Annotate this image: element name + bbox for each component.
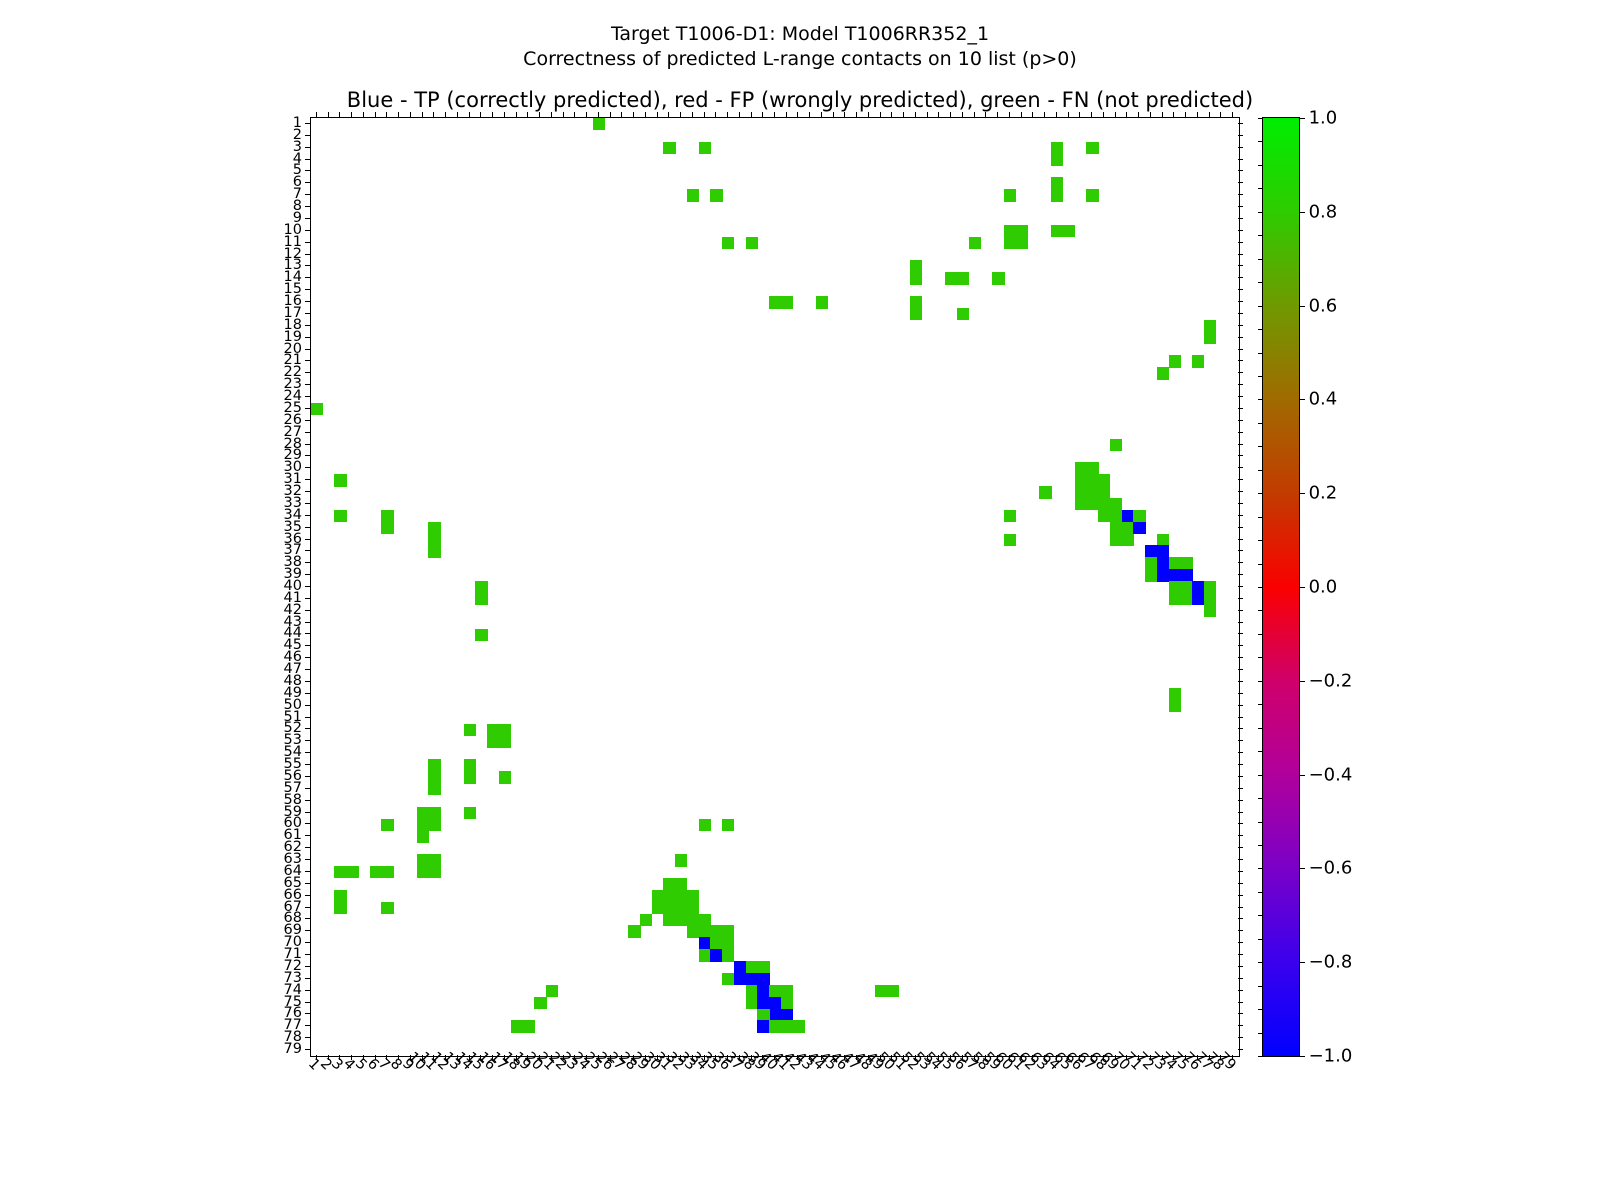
y-axis-tick (305, 764, 310, 765)
y-axis-tick-right (1238, 966, 1243, 967)
colorbar-minor-tick (1258, 1033, 1263, 1034)
y-axis-tick-right (1238, 788, 1243, 789)
y-axis-tick-right (1238, 693, 1243, 694)
colorbar-minor-tick (1258, 517, 1263, 518)
y-axis-tick (305, 610, 310, 611)
contact-cell (722, 973, 734, 985)
contact-cell (1004, 510, 1016, 522)
x-axis-tick-top (903, 112, 904, 117)
x-axis-tick-top (1091, 112, 1092, 117)
y-axis-tick (305, 740, 310, 741)
x-axis-tick-top (938, 112, 939, 117)
contact-cell (652, 890, 664, 902)
x-axis-tick-top (680, 112, 681, 117)
contact-cell (475, 581, 487, 593)
contact-cell (652, 902, 664, 914)
y-axis-tick-right (1238, 1049, 1243, 1050)
y-axis-tick-right (1238, 372, 1243, 373)
contact-cell (781, 985, 793, 997)
contact-cell (1157, 557, 1169, 569)
y-axis-tick-right (1238, 598, 1243, 599)
x-axis-tick-top (997, 112, 998, 117)
y-axis-tick-right (1238, 835, 1243, 836)
x-axis-tick-top (551, 112, 552, 117)
y-axis-tick (305, 313, 310, 314)
x-axis-tick-top (586, 112, 587, 117)
contact-cell (381, 866, 393, 878)
y-axis-tick-right (1238, 123, 1243, 124)
contact-cell (1192, 581, 1204, 593)
y-axis-tick-right (1238, 491, 1243, 492)
y-axis-tick-right (1238, 206, 1243, 207)
x-axis-tick-top (363, 112, 364, 117)
contact-cell (428, 819, 440, 831)
y-axis-tick (305, 360, 310, 361)
x-axis-tick-top (915, 112, 916, 117)
x-axis-tick-top (1173, 112, 1174, 117)
y-axis-tick-right (1238, 467, 1243, 468)
y-axis-tick-right (1238, 776, 1243, 777)
contact-cell (487, 735, 499, 747)
contact-cell (334, 510, 346, 522)
y-axis-tick (305, 574, 310, 575)
y-axis-tick-right (1238, 479, 1243, 480)
contact-cell (1075, 498, 1087, 510)
colorbar-minor-tick (1258, 118, 1263, 119)
contact-cell (546, 985, 558, 997)
y-axis-tick-right (1238, 586, 1243, 587)
contact-cell (475, 593, 487, 605)
contact-cell (417, 819, 429, 831)
contact-cell (875, 985, 887, 997)
contact-cell (734, 961, 746, 973)
x-axis-tick-top (328, 112, 329, 117)
x-axis-tick-top (563, 112, 564, 117)
contact-cell (1051, 189, 1063, 201)
x-axis-tick-top (1209, 112, 1210, 117)
contact-cell (1051, 177, 1063, 189)
x-axis-tick-top (668, 112, 669, 117)
colorbar-minor-tick (1258, 282, 1263, 283)
colorbar-minor-tick (1258, 868, 1263, 869)
y-axis-tick-right (1238, 942, 1243, 943)
contact-cell (793, 1020, 805, 1032)
contact-cell (1086, 142, 1098, 154)
y-axis-tick-right (1238, 230, 1243, 231)
contact-cell (910, 272, 922, 284)
colorbar-minor-tick (1258, 212, 1263, 213)
contact-cell (675, 902, 687, 914)
contact-cell (1122, 510, 1134, 522)
contact-cell (887, 985, 899, 997)
y-axis-tick (305, 1037, 310, 1038)
contact-cell (1157, 545, 1169, 557)
contact-cell (417, 854, 429, 866)
colorbar-minor-tick (1258, 188, 1263, 189)
contact-cell (969, 237, 981, 249)
y-axis-label: 79 (284, 1041, 302, 1057)
contact-cell (699, 937, 711, 949)
y-axis-tick (305, 491, 310, 492)
x-axis-tick-top (1103, 112, 1104, 117)
contact-cell (769, 1020, 781, 1032)
x-axis-tick-top (375, 112, 376, 117)
y-axis-tick-right (1238, 325, 1243, 326)
colorbar-tick-label: 0.2 (1303, 483, 1338, 504)
contact-cell (499, 771, 511, 783)
x-axis-tick-top (398, 112, 399, 117)
contact-cell (757, 961, 769, 973)
x-axis-tick-top (774, 112, 775, 117)
contact-cell (710, 189, 722, 201)
contact-cell (663, 890, 675, 902)
y-axis-tick (305, 622, 310, 623)
x-axis-tick-top (868, 112, 869, 117)
y-axis-tick (305, 550, 310, 551)
contact-cell (534, 997, 546, 1009)
contact-cell (1169, 593, 1181, 605)
contact-cell (722, 937, 734, 949)
y-axis-tick (305, 930, 310, 931)
y-axis-tick (305, 194, 310, 195)
contact-cell (663, 142, 675, 154)
y-axis-tick-right (1238, 681, 1243, 682)
contact-cell (381, 902, 393, 914)
contact-cell (1204, 605, 1216, 617)
colorbar-minor-tick (1258, 634, 1263, 635)
contact-cell (1039, 486, 1051, 498)
contact-cell (1204, 581, 1216, 593)
contact-cell (1098, 486, 1110, 498)
y-axis-tick-right (1238, 918, 1243, 919)
contact-cell (781, 1020, 793, 1032)
y-axis-tick (305, 776, 310, 777)
y-axis-tick (305, 883, 310, 884)
x-axis-tick-top (880, 112, 881, 117)
y-axis-tick (305, 408, 310, 409)
y-axis-tick (305, 705, 310, 706)
y-axis-tick-right (1238, 895, 1243, 896)
x-axis-tick-top (610, 112, 611, 117)
contact-cell (428, 759, 440, 771)
contact-cell (769, 997, 781, 1009)
contact-cell (687, 890, 699, 902)
chart-legend-subtitle: Blue - TP (correctly predicted), red - F… (0, 88, 1600, 112)
contact-cell (1169, 700, 1181, 712)
colorbar-minor-tick (1258, 610, 1263, 611)
contact-cell (675, 890, 687, 902)
y-axis-tick-right (1238, 420, 1243, 421)
x-axis-tick-top (704, 112, 705, 117)
contact-cell (1086, 189, 1098, 201)
contact-cell (1180, 557, 1192, 569)
contact-cell (769, 296, 781, 308)
contact-cell (417, 807, 429, 819)
contact-cell (1075, 462, 1087, 474)
y-axis-tick-right (1238, 645, 1243, 646)
contact-cell (746, 237, 758, 249)
contact-cell (781, 997, 793, 1009)
contact-cell (1169, 569, 1181, 581)
colorbar-minor-tick (1258, 306, 1263, 307)
x-axis-tick-top (1079, 112, 1080, 117)
colorbar-tick-label: −0.6 (1303, 858, 1353, 879)
contact-cell (346, 866, 358, 878)
y-axis-tick-right (1238, 408, 1243, 409)
contact-cell (334, 902, 346, 914)
x-axis-tick-top (516, 112, 517, 117)
contact-cell (593, 118, 605, 130)
contact-cell (1180, 581, 1192, 593)
y-axis-tick-right (1238, 242, 1243, 243)
y-axis-tick (305, 859, 310, 860)
colorbar-minor-tick (1258, 564, 1263, 565)
x-axis-tick-top (433, 112, 434, 117)
colorbar-minor-tick (1258, 141, 1263, 142)
x-axis-tick-top (621, 112, 622, 117)
contact-cell (334, 890, 346, 902)
contact-cell (687, 189, 699, 201)
colorbar-gradient (1263, 118, 1299, 1056)
contact-cell (675, 878, 687, 890)
contact-cell (428, 783, 440, 795)
y-axis-tick-right (1238, 705, 1243, 706)
contact-cell (428, 522, 440, 534)
x-axis-tick-top (598, 112, 599, 117)
y-axis-tick (305, 645, 310, 646)
y-axis-tick (305, 337, 310, 338)
y-axis-tick (305, 717, 310, 718)
y-axis-tick-right (1238, 550, 1243, 551)
colorbar-minor-tick (1258, 540, 1263, 541)
x-axis-tick-top (1044, 112, 1045, 117)
x-axis-tick-top (1021, 112, 1022, 117)
y-axis-tick (305, 835, 310, 836)
y-axis-tick (305, 396, 310, 397)
y-axis-tick-right (1238, 633, 1243, 634)
contact-cell (1086, 462, 1098, 474)
contact-cell (757, 1020, 769, 1032)
y-axis-tick (305, 752, 310, 753)
contact-cell (945, 272, 957, 284)
y-axis-tick (305, 1025, 310, 1026)
contact-cell (1086, 474, 1098, 486)
y-axis-tick-right (1238, 503, 1243, 504)
y-axis-tick-right (1238, 384, 1243, 385)
y-axis-tick-right (1238, 1002, 1243, 1003)
colorbar-minor-tick (1258, 259, 1263, 260)
x-axis-tick-top (1197, 112, 1198, 117)
contact-cell (1051, 142, 1063, 154)
y-axis-tick-right (1238, 610, 1243, 611)
contact-cell (816, 296, 828, 308)
chart-title-line-1: Target T1006-D1: Model T1006RR352_1 (0, 22, 1600, 47)
y-axis-tick-right (1238, 455, 1243, 456)
y-axis-tick (305, 942, 310, 943)
x-axis-tick-top (985, 112, 986, 117)
contact-cell (428, 771, 440, 783)
colorbar-minor-tick (1258, 845, 1263, 846)
contact-cell (675, 914, 687, 926)
x-axis-tick-top (751, 112, 752, 117)
x-axis-tick-top (1220, 112, 1221, 117)
colorbar-minor-tick (1258, 235, 1263, 236)
y-axis-tick (305, 503, 310, 504)
colorbar-minor-tick (1258, 470, 1263, 471)
x-axis-tick-top (351, 112, 352, 117)
y-axis-tick (305, 954, 310, 955)
y-axis-tick (305, 907, 310, 908)
y-axis-tick-right (1238, 135, 1243, 136)
x-axis-tick-top (1162, 112, 1163, 117)
contact-cell (640, 914, 652, 926)
y-axis-tick (305, 170, 310, 171)
contact-cell (1122, 522, 1134, 534)
contact-cell (334, 474, 346, 486)
colorbar-tick-label: 1.0 (1303, 108, 1338, 129)
contact-cell (769, 1009, 781, 1021)
x-axis-tick-top (504, 112, 505, 117)
contact-cell (428, 545, 440, 557)
colorbar-minor-tick (1258, 1009, 1263, 1010)
colorbar-minor-tick (1258, 681, 1263, 682)
contact-cell (699, 949, 711, 961)
contact-cell (428, 866, 440, 878)
y-axis-tick (305, 681, 310, 682)
contact-cell (992, 272, 1004, 284)
contact-cell (487, 724, 499, 736)
contact-cell (910, 308, 922, 320)
y-axis-tick (305, 467, 310, 468)
contact-map-plot-area[interactable] (310, 117, 1240, 1057)
colorbar-tick-label: −0.4 (1303, 764, 1353, 785)
contact-cell (1004, 225, 1016, 237)
y-axis-tick (305, 788, 310, 789)
contact-cell (417, 866, 429, 878)
y-axis-tick (305, 657, 310, 658)
y-axis-tick (305, 990, 310, 991)
contact-cell (381, 510, 393, 522)
y-axis-tick (305, 277, 310, 278)
y-axis-tick (305, 527, 310, 528)
colorbar-minor-tick (1258, 399, 1263, 400)
contact-cell (687, 914, 699, 926)
colorbar-minor-tick (1258, 775, 1263, 776)
y-axis-tick (305, 147, 310, 148)
y-axis-tick (305, 444, 310, 445)
y-axis-tick (305, 669, 310, 670)
contact-cell (522, 1020, 534, 1032)
contact-cell (1016, 237, 1028, 249)
y-axis-tick-right (1238, 182, 1243, 183)
y-axis-tick (305, 206, 310, 207)
colorbar-minor-tick (1258, 798, 1263, 799)
y-axis-tick (305, 966, 310, 967)
contact-cell (428, 854, 440, 866)
contact-cell (1192, 593, 1204, 605)
x-axis-tick-top (833, 112, 834, 117)
colorbar-tick-label: −1.0 (1303, 1046, 1353, 1067)
contact-cell (1169, 581, 1181, 593)
colorbar-minor-tick (1258, 587, 1263, 588)
contact-cell (757, 1009, 769, 1021)
x-axis-tick-top (856, 112, 857, 117)
contact-cell (769, 985, 781, 997)
x-axis-tick-top (1009, 112, 1010, 117)
contact-cell (663, 878, 675, 890)
x-axis-tick-top (762, 112, 763, 117)
contact-cell (710, 949, 722, 961)
colorbar[interactable]: 1.00.80.60.40.20.0−0.2−0.4−0.6−0.8−1.0 (1262, 117, 1300, 1057)
contact-cell (663, 902, 675, 914)
x-axis-tick-top (962, 112, 963, 117)
x-axis-tick-top (950, 112, 951, 117)
y-axis-tick (305, 586, 310, 587)
x-axis-tick-top (974, 112, 975, 117)
x-axis-tick-top (891, 112, 892, 117)
colorbar-minor-tick (1258, 704, 1263, 705)
x-axis-tick-top (633, 112, 634, 117)
colorbar-minor-tick (1258, 962, 1263, 963)
x-axis-tick-top (809, 112, 810, 117)
contact-cell (757, 997, 769, 1009)
colorbar-minor-tick (1258, 939, 1263, 940)
contact-cell (687, 902, 699, 914)
y-axis-tick (305, 562, 310, 563)
y-axis-tick (305, 135, 310, 136)
contact-cell (699, 142, 711, 154)
y-axis-tick-right (1238, 752, 1243, 753)
x-axis-tick-top (821, 112, 822, 117)
y-axis-tick-right (1238, 990, 1243, 991)
x-axis-tick-top (469, 112, 470, 117)
contact-cell (781, 1009, 793, 1021)
y-axis-tick-right (1238, 622, 1243, 623)
x-axis-tick-top (727, 112, 728, 117)
y-axis-tick-right (1238, 574, 1243, 575)
contact-cell (311, 403, 323, 415)
y-axis-tick-right (1238, 1025, 1243, 1026)
y-axis-tick-right (1238, 871, 1243, 872)
y-axis-tick (305, 812, 310, 813)
y-axis-tick-right (1238, 669, 1243, 670)
x-axis-tick-top (574, 112, 575, 117)
contact-cell (334, 866, 346, 878)
colorbar-minor-tick (1258, 892, 1263, 893)
colorbar-minor-tick (1258, 329, 1263, 330)
contact-cell (675, 854, 687, 866)
y-axis-tick (305, 325, 310, 326)
colorbar-minor-tick (1258, 376, 1263, 377)
contact-cell (1145, 557, 1157, 569)
y-axis-tick-right (1238, 1013, 1243, 1014)
x-axis-tick-top (539, 112, 540, 117)
contact-cell (1192, 355, 1204, 367)
contact-cell (475, 629, 487, 641)
contact-cell (746, 997, 758, 1009)
x-axis-tick-top (1068, 112, 1069, 117)
contact-cell (1086, 486, 1098, 498)
contact-cell (1098, 474, 1110, 486)
contact-cell (734, 973, 746, 985)
contact-cell (1180, 569, 1192, 581)
contact-cell (1075, 474, 1087, 486)
contact-cell (746, 985, 758, 997)
contact-cell (710, 937, 722, 949)
contact-cell (1086, 498, 1098, 510)
contact-cell (1157, 569, 1169, 581)
contact-cell (1169, 688, 1181, 700)
